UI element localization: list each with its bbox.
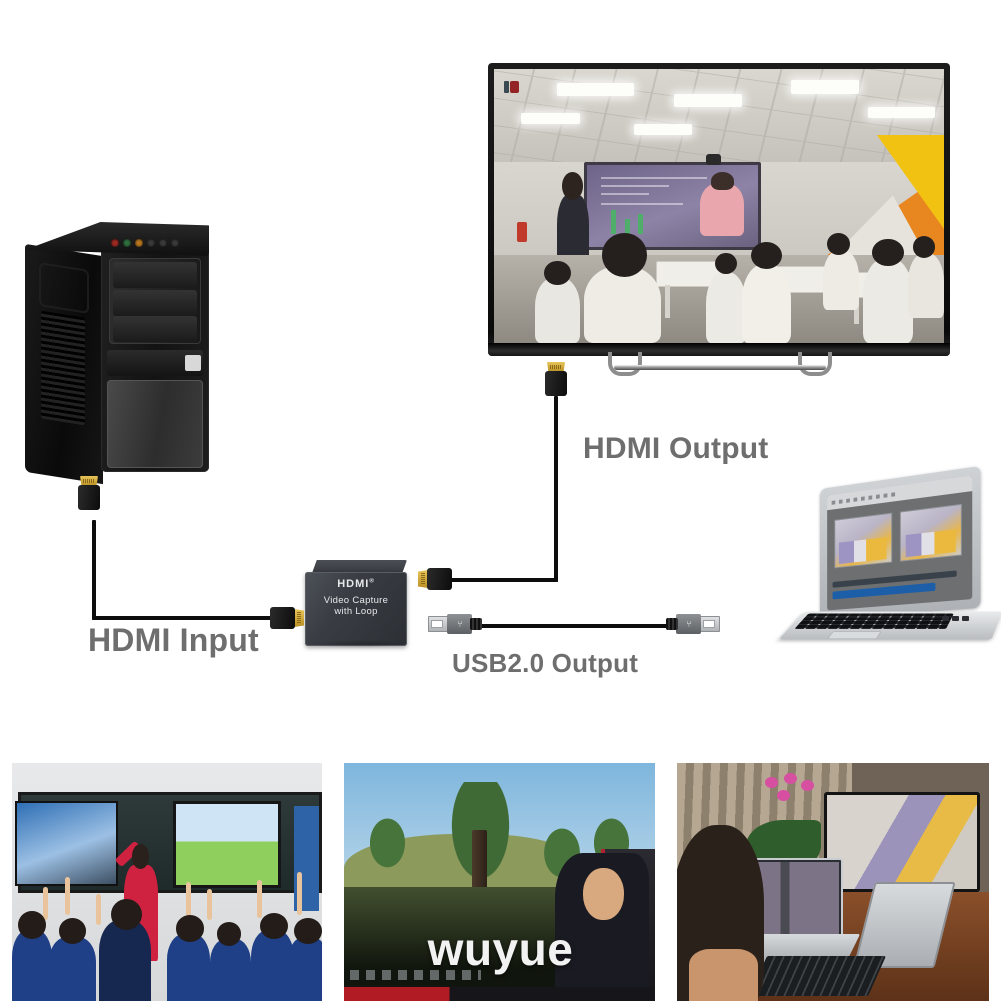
label-usb-output: USB2.0 Output xyxy=(452,648,638,679)
hdmi-connector-pc xyxy=(78,476,100,510)
tv-power-led xyxy=(510,81,519,93)
device-body: HDMI® Video Capture with Loop xyxy=(305,572,407,646)
preview-pane-right xyxy=(900,504,962,561)
device-label-line1: Video Capture xyxy=(313,595,399,606)
laptop-lid xyxy=(820,466,981,620)
preview-pane-left xyxy=(834,513,892,568)
pc-drive-bays xyxy=(109,258,201,344)
hdmi-connector-device-input xyxy=(270,607,304,629)
cable-usb-output xyxy=(466,624,682,628)
label-hdmi-output: HDMI Output xyxy=(583,432,768,466)
desktop-pc-tower xyxy=(25,222,210,487)
tv-stand xyxy=(600,352,840,374)
usb-connector-laptop: ⑂ xyxy=(676,614,720,634)
hdmi-connector-tv xyxy=(545,362,567,396)
laptop-keyboard[interactable] xyxy=(794,614,953,629)
tv-sensor-icon xyxy=(504,81,509,93)
tv-screen xyxy=(494,69,944,343)
diagram-canvas: HDMI® Video Capture with Loop ⑂ ⑂ xyxy=(0,0,1001,1001)
usb-connector-device: ⑂ xyxy=(428,614,472,634)
pc-vent-grille xyxy=(41,311,85,426)
cable-hdmi-input-vertical xyxy=(92,520,96,620)
device-label-line2: with Loop xyxy=(313,606,399,617)
hdmi-capture-device: HDMI® Video Capture with Loop xyxy=(305,560,413,652)
cable-hdmi-output-vertical xyxy=(554,396,558,582)
laptop-screen xyxy=(827,475,972,610)
pc-front-ports xyxy=(111,236,199,249)
laptop-side-ports xyxy=(942,611,986,626)
watermark: wuyue xyxy=(0,922,1001,976)
pc-power-button[interactable] xyxy=(185,355,201,371)
cable-hdmi-input-horizontal xyxy=(92,616,274,620)
laptop-trackpad[interactable] xyxy=(827,631,882,639)
cable-hdmi-output-horizontal xyxy=(448,578,558,582)
tv-classroom-scene xyxy=(494,69,944,343)
hdmi-connector-device-loopout xyxy=(418,568,452,590)
usb-trident-icon: ⑂ xyxy=(454,620,466,628)
usb-trident-icon-2: ⑂ xyxy=(683,620,695,628)
laptop-computer xyxy=(792,478,997,668)
label-hdmi-input: HDMI Input xyxy=(88,622,259,659)
television xyxy=(488,63,950,356)
pc-lower-panel xyxy=(107,380,203,468)
device-hdmi-logo: HDMI® xyxy=(313,578,399,590)
